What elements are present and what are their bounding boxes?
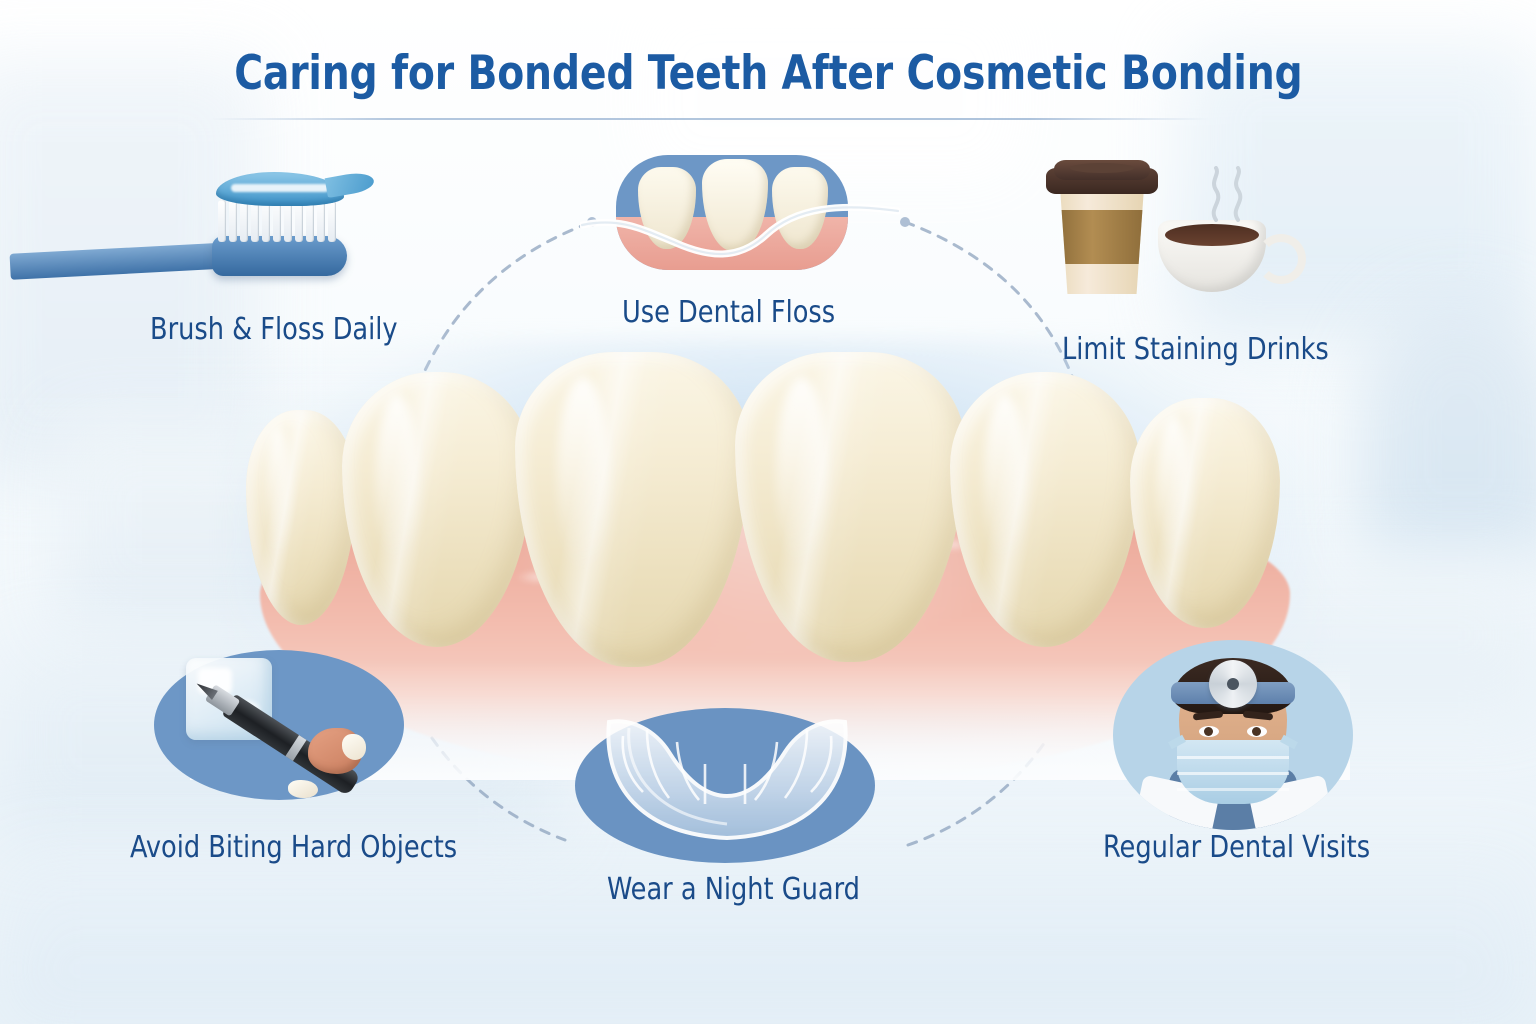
- surgical-mask: [1177, 740, 1289, 804]
- togo-cup-body: [1054, 184, 1150, 294]
- ceramic-cup-handle: [1256, 234, 1306, 284]
- nut-crumb: [288, 780, 318, 798]
- item-hard-objects[interactable]: Avoid Biting Hard Objects: [130, 650, 470, 880]
- dentist-eye-left: [1199, 726, 1219, 737]
- item-label-staining-drinks: Limit Staining Drinks: [1062, 332, 1329, 367]
- item-label-dental-floss: Use Dental Floss: [622, 295, 835, 330]
- item-brush-floss[interactable]: Brush & Floss Daily: [150, 160, 550, 360]
- infographic-canvas: Caring for Bonded Teeth After Cosmetic B…: [0, 0, 1536, 1024]
- item-night-guard[interactable]: Wear a Night Guard: [565, 700, 895, 930]
- item-label-dental-visits: Regular Dental Visits: [1103, 830, 1370, 865]
- mouthguard-arch: [585, 700, 870, 865]
- head-mirror-icon: [1209, 660, 1257, 708]
- toothpaste-tip: [325, 170, 376, 198]
- item-label-hard-objects: Avoid Biting Hard Objects: [130, 830, 457, 865]
- steam-icon: [1198, 166, 1268, 224]
- connector-dot-2: [900, 217, 910, 227]
- ceramic-cup-body: [1158, 220, 1266, 292]
- dentist-eye-right: [1247, 726, 1267, 737]
- togo-cup-sleeve: [1054, 210, 1150, 264]
- item-dental-visits[interactable]: Regular Dental Visits: [1095, 630, 1425, 880]
- floss-strand: [580, 177, 900, 287]
- item-staining-drinks[interactable]: Limit Staining Drinks: [1040, 160, 1360, 370]
- nut-piece: [308, 728, 362, 774]
- item-label-night-guard: Wear a Night Guard: [607, 872, 860, 907]
- coffee-cups-icon: [1040, 160, 1340, 300]
- toothpaste-blob: [216, 172, 344, 206]
- togo-cup-lid-top: [1054, 160, 1150, 180]
- toothbrush-head: [212, 236, 347, 276]
- coffee-liquid: [1165, 224, 1259, 246]
- dentist-portrait-icon: [1113, 640, 1353, 830]
- item-dental-floss[interactable]: Use Dental Floss: [600, 155, 900, 345]
- item-label-brush-floss: Brush & Floss Daily: [150, 312, 398, 347]
- toothbrush-icon: [150, 160, 470, 310]
